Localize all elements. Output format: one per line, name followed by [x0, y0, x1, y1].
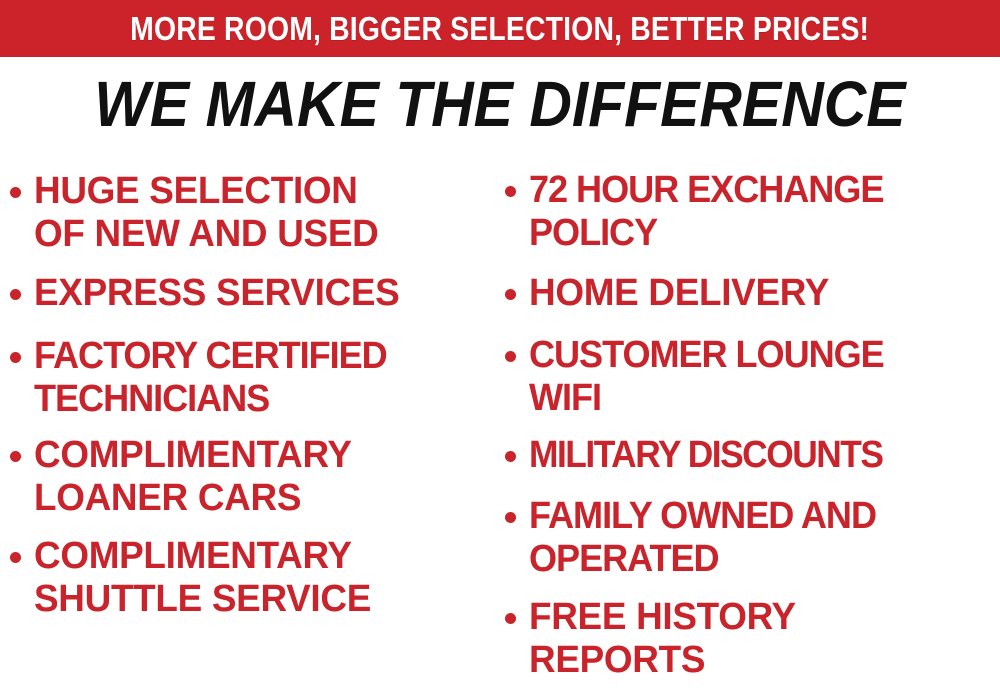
list-item-label: CUSTOMER LOUNGE WIFI	[529, 334, 884, 420]
bullet-dot-icon	[10, 451, 21, 462]
bullet-dot-icon	[10, 187, 21, 198]
list-item: HOME DELIVERY	[505, 272, 838, 315]
list-item-label: COMPLIMENTARY LOANER CARS	[34, 434, 352, 520]
bullet-dot-icon	[505, 512, 516, 523]
list-item: 72 HOUR EXCHANGE POLICY	[505, 169, 902, 255]
bullet-dot-icon	[505, 613, 516, 624]
banner-headline-text: MORE ROOM, BIGGER SELECTION, BETTER PRIC…	[130, 12, 869, 45]
bullet-dot-icon	[505, 451, 516, 462]
benefits-column-right: 72 HOUR EXCHANGE POLICY HOME DELIVERY CU…	[505, 160, 1000, 694]
bullet-dot-icon	[505, 351, 516, 362]
list-item-label: 72 HOUR EXCHANGE POLICY	[529, 169, 883, 255]
list-item: COMPLIMENTARY SHUTTLE SERVICE	[10, 535, 381, 621]
headline-container: WE MAKE THE DIFFERENCE	[0, 66, 1000, 142]
list-item: HUGE SELECTION OF NEW AND USED	[10, 170, 389, 256]
list-item: FAMILY OWNED AND OPERATED	[505, 495, 894, 581]
list-item: EXPRESS SERVICES	[10, 272, 411, 315]
list-item: FACTORY CERTIFIED TECHNICIANS	[10, 335, 405, 421]
list-item: MILITARY DISCOUNTS	[505, 434, 909, 477]
list-item-label: COMPLIMENTARY SHUTTLE SERVICE	[34, 535, 371, 621]
benefits-column-left: HUGE SELECTION OF NEW AND USED EXPRESS S…	[10, 160, 490, 694]
bullet-dot-icon	[505, 289, 516, 300]
page-title: WE MAKE THE DIFFERENCE	[94, 72, 905, 136]
list-item-label: EXPRESS SERVICES	[34, 272, 399, 315]
bullet-dot-icon	[505, 186, 516, 197]
bullet-dot-icon	[10, 352, 21, 363]
list-item-label: HOME DELIVERY	[529, 272, 829, 315]
list-item: CUSTOMER LOUNGE WIFI	[505, 334, 902, 420]
top-banner: MORE ROOM, BIGGER SELECTION, BETTER PRIC…	[0, 0, 1000, 57]
bullet-dot-icon	[10, 552, 21, 563]
list-item-label: FAMILY OWNED AND OPERATED	[529, 495, 876, 581]
list-item-label: FREE HISTORY REPORTS	[529, 596, 796, 682]
benefits-columns: HUGE SELECTION OF NEW AND USED EXPRESS S…	[0, 160, 1000, 694]
list-item: FREE HISTORY REPORTS	[505, 596, 804, 682]
list-item-label: FACTORY CERTIFIED TECHNICIANS	[34, 335, 387, 421]
bullet-dot-icon	[10, 289, 21, 300]
list-item-label: MILITARY DISCOUNTS	[529, 434, 882, 477]
list-item: COMPLIMENTARY LOANER CARS	[10, 434, 362, 520]
advertisement-poster: MORE ROOM, BIGGER SELECTION, BETTER PRIC…	[0, 0, 1000, 694]
list-item-label: HUGE SELECTION OF NEW AND USED	[34, 170, 378, 256]
